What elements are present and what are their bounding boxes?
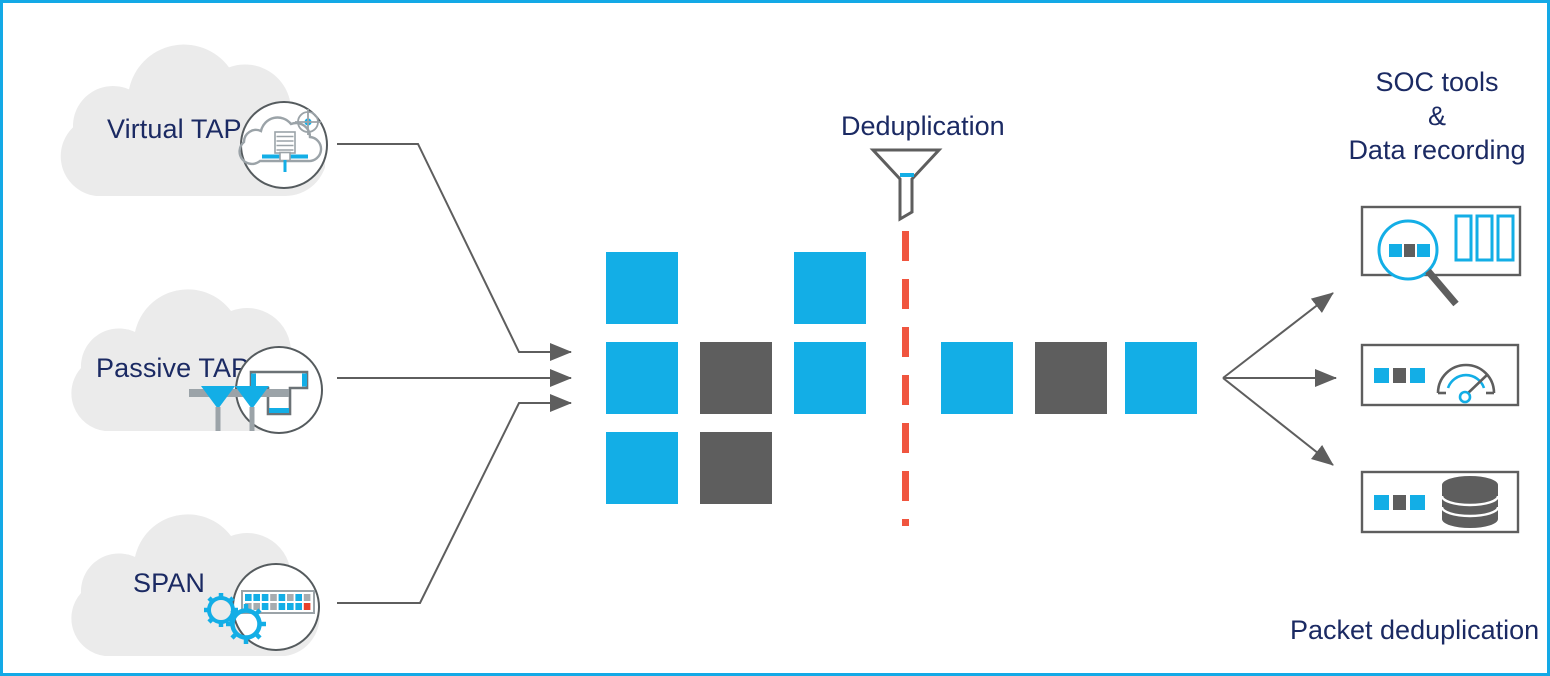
- packet-square: [1125, 342, 1197, 414]
- packet-square: [700, 432, 772, 504]
- packet-square: [606, 342, 678, 414]
- packet-square: [700, 342, 772, 414]
- packet-square: [794, 252, 866, 324]
- destinations-title-line2: &: [1283, 99, 1550, 133]
- funnel-icon: [869, 146, 943, 227]
- deduplication-label: Deduplication: [841, 111, 1005, 142]
- packet-square: [606, 252, 678, 324]
- magnifier-bars-icon: [1358, 203, 1528, 313]
- destinations-title: SOC tools & Data recording: [1283, 65, 1550, 167]
- packet-square: [794, 342, 866, 414]
- gauge-icon: [1360, 343, 1520, 407]
- destinations-title-line3: Data recording: [1283, 133, 1550, 167]
- packet-deduplication-caption: Packet deduplication: [1290, 615, 1539, 646]
- diagram-canvas: Virtual TAP Passive TAP SPAN: [0, 0, 1550, 676]
- database-icon: [1360, 470, 1520, 534]
- destinations-title-line1: SOC tools: [1283, 65, 1550, 99]
- packet-square: [941, 342, 1013, 414]
- deduplication-divider: [902, 231, 909, 526]
- packet-square: [606, 432, 678, 504]
- packet-square: [1035, 342, 1107, 414]
